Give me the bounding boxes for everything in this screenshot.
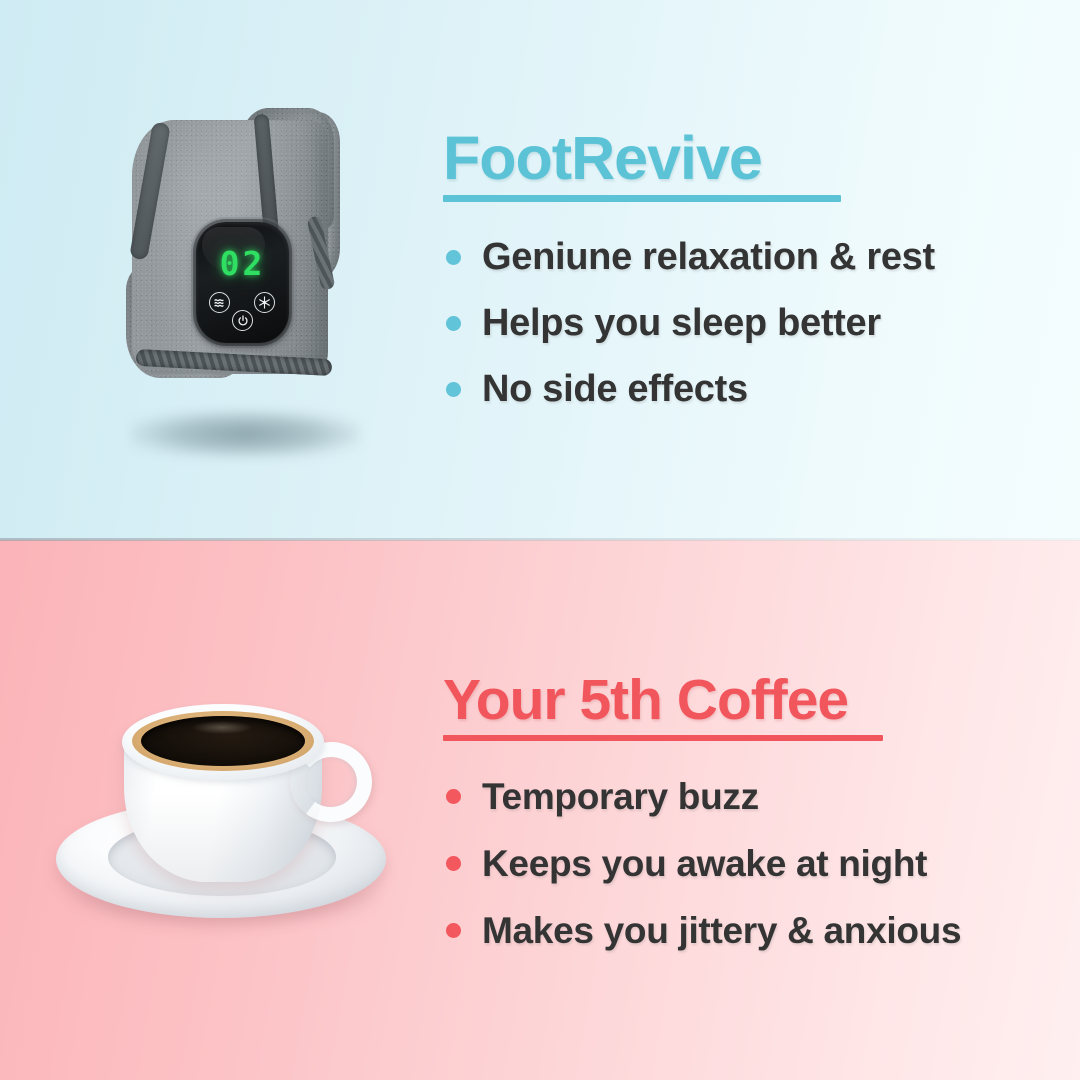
top-text-block: FootRevive Geniune relaxation & rest Hel… (443, 128, 1043, 422)
list-item: Makes you jittery & anxious (443, 897, 1053, 964)
list-item: Helps you sleep better (443, 290, 1043, 356)
device-control-panel[interactable]: 02 (196, 222, 289, 343)
list-item: Temporary buzz (443, 763, 1053, 830)
bottom-panel-coffee: Your 5th Coffee Temporary buzz Keeps you… (0, 540, 1080, 1080)
list-item: Keeps you awake at night (443, 830, 1053, 897)
bottom-headline: Your 5th Coffee (443, 672, 1053, 729)
coffee-cup-image (42, 690, 402, 940)
heat-waves-icon (213, 297, 227, 309)
list-item-label: Geniune relaxation & rest (482, 236, 935, 279)
dot-icon (446, 789, 461, 804)
bottom-text-block: Your 5th Coffee Temporary buzz Keeps you… (443, 672, 1053, 964)
power-button[interactable] (232, 310, 253, 331)
dot-icon (446, 316, 461, 331)
level-display: 02 (196, 244, 289, 283)
heat-button[interactable] (209, 292, 230, 313)
product-drop-shadow (130, 410, 360, 458)
foot-massager-wrap-image: 02 (118, 96, 378, 386)
dot-icon (446, 923, 461, 938)
list-item: Geniune relaxation & rest (443, 224, 1043, 290)
list-item-label: Temporary buzz (482, 776, 759, 818)
power-icon (237, 315, 249, 327)
headline-underline (443, 735, 883, 741)
list-item-label: Keeps you awake at night (482, 843, 927, 885)
bottom-drawback-list: Temporary buzz Keeps you awake at night … (443, 763, 1053, 964)
cool-button[interactable] (254, 292, 275, 313)
panel-divider (0, 538, 1080, 541)
list-item-label: No side effects (482, 368, 748, 411)
snowflake-icon (258, 296, 271, 309)
list-item: No side effects (443, 356, 1043, 422)
top-benefit-list: Geniune relaxation & rest Helps you slee… (443, 224, 1043, 422)
headline-underline (443, 195, 841, 202)
liquid-highlight (192, 721, 252, 734)
list-item-label: Makes you jittery & anxious (482, 910, 961, 952)
dot-icon (446, 250, 461, 265)
comparison-graphic: 02 (0, 0, 1080, 1080)
dot-icon (446, 856, 461, 871)
dot-icon (446, 382, 461, 397)
list-item-label: Helps you sleep better (482, 302, 881, 345)
top-headline: FootRevive (443, 128, 1043, 189)
top-panel-footrevive: 02 (0, 0, 1080, 540)
